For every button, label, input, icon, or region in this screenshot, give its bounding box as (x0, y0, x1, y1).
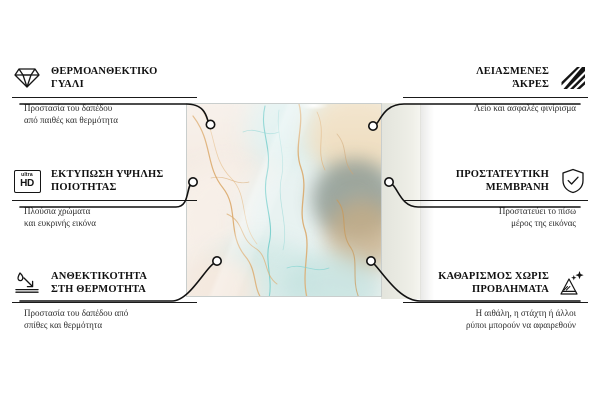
flame-heat-resistance-icon (12, 270, 42, 296)
ultra-hd-badge-main-text: HD (20, 179, 34, 189)
feature-easy-cleaning: ΚΑΘΑΡΙΣΜΟΣ ΧΩΡΙΣ ΠΡΟΒΛΗΜΑΤΑ Η αιθάλη, η … (403, 268, 588, 331)
feature-heat-resistant-glass: ΘΕΡΜΟΑΝΘΕΚΤΙΚΟ ΓΥΑΛΙ Προστασία του δαπέδ… (12, 63, 197, 126)
feature-heat-resistance: ΑΝΘΕΚΤΙΚΟΤΗΤΑ ΣΤΗ ΘΕΡΜΟΤΗΤΑ Προστασία το… (12, 268, 197, 331)
feature-description: Προστασία του δαπέδου από σπίθες και θερ… (12, 308, 197, 331)
ink-veins (187, 104, 382, 297)
sparkle-clean-icon (558, 270, 588, 296)
divider (12, 200, 197, 201)
feature-header: ΛΕΙΑΣΜΕΝΕΣ ΆΚΡΕΣ (403, 63, 588, 93)
divider (12, 302, 197, 303)
beveled-edges-glyph (560, 66, 586, 90)
feature-header: ultra HD ΕΚΤΥΠΩΣΗ ΥΨΗΛΗΣ ΠΟΙΟΤΗΤΑΣ (12, 166, 197, 196)
feature-header: ΘΕΡΜΟΑΝΘΕΚΤΙΚΟ ΓΥΑΛΙ (12, 63, 197, 93)
divider (12, 97, 197, 98)
feature-header: ΚΑΘΑΡΙΣΜΟΣ ΧΩΡΙΣ ΠΡΟΒΛΗΜΑΤΑ (403, 268, 588, 298)
diamond-icon (12, 65, 42, 91)
feature-description: Πλούσια χρώματα και ευκρινής εικόνα (12, 206, 197, 229)
feature-high-quality-print: ultra HD ΕΚΤΥΠΩΣΗ ΥΨΗΛΗΣ ΠΟΙΟΤΗΤΑΣ Πλούσ… (12, 166, 197, 229)
glass-front-face (186, 103, 382, 297)
feature-header: ΑΝΘΕΚΤΙΚΟΤΗΤΑ ΣΤΗ ΘΕΡΜΟΤΗΤΑ (12, 268, 197, 298)
feature-title: ΕΚΤΥΠΩΣΗ ΥΨΗΛΗΣ ΠΟΙΟΤΗΤΑΣ (51, 168, 163, 194)
feature-header: ΠΡΟΣΤΑΤΕΥΤΙΚΗ ΜΕΜΒΡΑΝΗ (403, 166, 588, 196)
feature-description: Προστασία του δαπέδου από παιθές και θερ… (12, 103, 197, 126)
feature-title: ΑΝΘΕΚΤΙΚΟΤΗΤΑ ΣΤΗ ΘΕΡΜΟΤΗΤΑ (51, 270, 147, 296)
feature-description: Λείο και ασφαλές φινίρισμα (403, 103, 588, 115)
feature-description: Προστατεύει το πίσω μέρος της εικόνας (403, 206, 588, 229)
beveled-edges-icon (558, 65, 588, 91)
feature-protective-membrane: ΠΡΟΣΤΑΤΕΥΤΙΚΗ ΜΕΜΒΡΑΝΗ Προστατεύει το πί… (403, 166, 588, 229)
shield-check-icon (558, 168, 588, 194)
feature-title: ΛΕΙΑΣΜΕΝΕΣ ΆΚΡΕΣ (476, 65, 549, 91)
feature-title: ΘΕΡΜΟΑΝΘΕΚΤΙΚΟ ΓΥΑΛΙ (51, 65, 157, 91)
infographic-canvas: ΘΕΡΜΟΑΝΘΕΚΤΙΚΟ ΓΥΑΛΙ Προστασία του δαπέδ… (0, 0, 600, 400)
feature-smoothed-edges: ΛΕΙΑΣΜΕΝΕΣ ΆΚΡΕΣ Λείο και ασφαλές φινίρι… (403, 63, 588, 115)
divider (403, 97, 588, 98)
divider (403, 200, 588, 201)
product-image (186, 103, 382, 297)
feature-title: ΠΡΟΣΤΑΤΕΥΤΙΚΗ ΜΕΜΒΡΑΝΗ (456, 168, 549, 194)
ultra-hd-badge-icon: ultra HD (12, 168, 42, 194)
divider (403, 302, 588, 303)
feature-title: ΚΑΘΑΡΙΣΜΟΣ ΧΩΡΙΣ ΠΡΟΒΛΗΜΑΤΑ (438, 270, 549, 296)
feature-description: Η αιθάλη, η στάχτη ή άλλοι ρύποι μπορούν… (403, 308, 588, 331)
